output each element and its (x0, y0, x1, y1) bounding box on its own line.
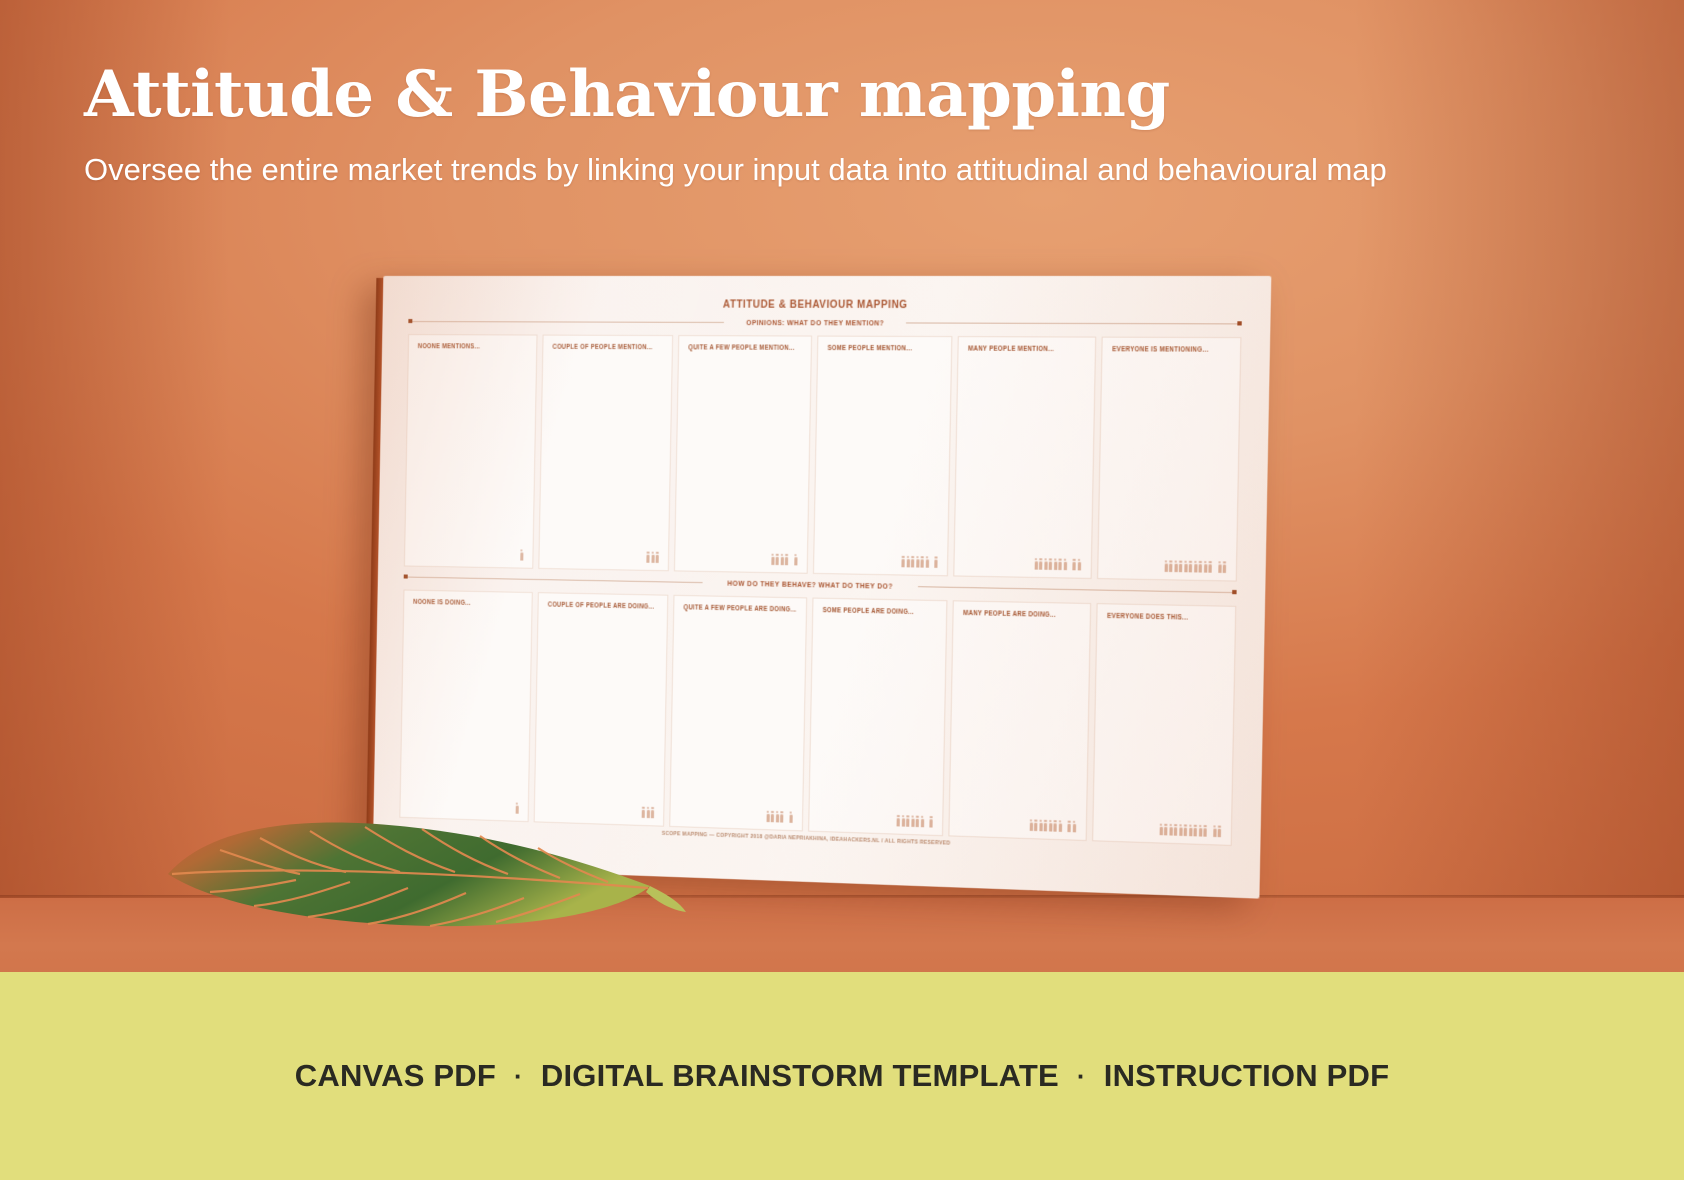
deliverable-digital-template: DIGITAL BRAINSTORM TEMPLATE (541, 1058, 1059, 1094)
opinion-cell-label: EVERYONE IS MENTIONING... (1112, 346, 1214, 354)
divider-label-opinions: OPINIONS: WHAT DO THEY MENTION? (746, 318, 884, 328)
divider-rule-left (408, 321, 723, 323)
person-icon (1029, 819, 1032, 831)
person-icon (1039, 558, 1042, 570)
person-icon (1189, 561, 1193, 573)
deliverables-list: CANVAS PDF · DIGITAL BRAINSTORM TEMPLATE… (295, 1058, 1389, 1094)
deliverable-canvas-pdf: CANVAS PDF (295, 1058, 496, 1094)
opinion-cell-4[interactable]: SOME PEOPLE MENTION... (812, 336, 952, 577)
person-icon (520, 549, 523, 560)
person-icon (1169, 824, 1172, 836)
person-icon (1223, 561, 1227, 573)
croton-leaf-prop (150, 800, 690, 950)
person-icon (897, 815, 900, 826)
person-icon (916, 816, 919, 827)
leaf-blade (168, 822, 650, 926)
person-icon (1179, 824, 1183, 836)
person-icon (1034, 820, 1037, 832)
opinion-cell-6[interactable]: EVERYONE IS MENTIONING... (1097, 337, 1242, 582)
person-icon (1174, 561, 1177, 573)
people-count-icons (901, 556, 937, 568)
person-icon (916, 556, 919, 567)
page-subtitle: Oversee the entire market trends by link… (84, 149, 1404, 191)
people-count-icons (646, 552, 659, 563)
person-icon (794, 554, 797, 565)
behaviour-cell-label: EVERYONE DOES THIS... (1107, 613, 1209, 622)
person-icon (1077, 559, 1080, 571)
person-icon (901, 815, 904, 826)
person-icon (1213, 825, 1217, 837)
people-count-icons (771, 554, 797, 566)
person-icon (1058, 820, 1061, 832)
divider-rule-right (906, 322, 1241, 324)
person-icon (1218, 826, 1222, 838)
person-icon (775, 554, 778, 565)
person-icon (780, 811, 783, 822)
deliverables-banner: CANVAS PDF · DIGITAL BRAINSTORM TEMPLATE… (0, 972, 1684, 1180)
people-count-icons (766, 811, 792, 823)
person-icon (775, 811, 778, 822)
opinions-row: NOONE MENTIONS...COUPLE OF PEOPLE MENTIO… (404, 334, 1242, 582)
person-icon (1039, 820, 1042, 832)
leaf-illustration (150, 800, 690, 950)
behaviour-cell-label: MANY PEOPLE ARE DOING... (963, 610, 1063, 619)
person-icon (1189, 825, 1193, 837)
person-icon (1164, 824, 1167, 836)
behaviour-cell-1[interactable]: NOONE IS DOING... (399, 590, 532, 823)
page-title: Attitude & Behaviour mapping (84, 62, 1424, 127)
people-count-icons (1164, 560, 1226, 573)
person-icon (929, 816, 932, 827)
person-icon (1208, 561, 1212, 573)
behaviour-cell-label: COUPLE OF PEOPLE ARE DOING... (547, 601, 642, 610)
person-icon (1203, 561, 1207, 573)
divider-rule-right (918, 586, 1236, 593)
person-icon (1198, 825, 1202, 837)
person-icon (1199, 561, 1203, 573)
person-icon (1174, 824, 1177, 836)
person-icon (1034, 558, 1037, 570)
person-icon (1058, 559, 1061, 571)
person-icon (1067, 821, 1070, 833)
person-icon (1169, 560, 1172, 572)
person-icon (1184, 561, 1188, 573)
separator-dot: · (514, 1061, 523, 1092)
behaviour-cell-2[interactable]: COUPLE OF PEOPLE ARE DOING... (533, 592, 668, 827)
person-icon (1053, 820, 1056, 832)
person-icon (1164, 560, 1167, 572)
person-icon (1159, 824, 1162, 836)
opinion-cell-label: NOONE MENTIONS... (418, 343, 512, 350)
person-icon (785, 554, 788, 565)
person-icon (1049, 820, 1052, 832)
person-icon (1063, 559, 1066, 571)
divider-rule-left (404, 576, 703, 583)
person-icon (911, 815, 914, 826)
person-icon (920, 556, 923, 567)
person-icon (1072, 559, 1075, 571)
person-icon (1044, 820, 1047, 832)
person-icon (1184, 824, 1188, 836)
person-icon (911, 556, 914, 567)
person-icon (1044, 558, 1047, 570)
opinion-cell-3[interactable]: QUITE A FEW PEOPLE MENTION... (674, 335, 812, 574)
person-icon (1194, 561, 1198, 573)
person-icon (656, 552, 659, 563)
product-mockup-scene: Attitude & Behaviour mapping Oversee the… (0, 0, 1684, 1180)
person-icon (901, 556, 904, 567)
people-count-icons (520, 549, 523, 560)
people-count-icons (1159, 824, 1221, 838)
person-icon (780, 554, 783, 565)
person-icon (1193, 825, 1197, 837)
behaviour-cell-3[interactable]: QUITE A FEW PEOPLE ARE DOING... (669, 595, 807, 832)
divider-label-behaviour: HOW DO THEY BEHAVE? WHAT DO THEY DO? (727, 578, 893, 590)
separator-dot: · (1077, 1061, 1086, 1092)
person-icon (789, 811, 792, 822)
leaf-stem (646, 886, 686, 912)
behaviour-cell-label: QUITE A FEW PEOPLE ARE DOING... (683, 604, 780, 613)
person-icon (1218, 561, 1222, 573)
opinion-cell-2[interactable]: COUPLE OF PEOPLE MENTION... (538, 335, 673, 572)
person-icon (646, 552, 649, 563)
opinion-cell-label: COUPLE OF PEOPLE MENTION... (552, 344, 647, 352)
people-count-icons (897, 815, 933, 828)
person-icon (1203, 825, 1207, 837)
person-icon (771, 811, 774, 822)
person-icon (925, 556, 928, 567)
behaviour-cell-label: SOME PEOPLE ARE DOING... (822, 607, 920, 616)
behaviour-cell-6[interactable]: EVERYONE DOES THIS... (1092, 603, 1237, 846)
person-icon (1053, 558, 1056, 570)
deliverable-instruction-pdf: INSTRUCTION PDF (1104, 1058, 1389, 1094)
canvas-title: ATTITUDE & BEHAVIOUR MAPPING (480, 298, 1163, 312)
opinion-cell-label: QUITE A FEW PEOPLE MENTION... (688, 344, 785, 352)
people-count-icons (1029, 819, 1076, 832)
person-icon (651, 552, 654, 563)
person-icon (1179, 561, 1183, 573)
person-icon (934, 556, 937, 567)
behaviour-cell-4[interactable]: SOME PEOPLE ARE DOING... (808, 598, 948, 837)
divider-opinions: OPINIONS: WHAT DO THEY MENTION? (408, 317, 1242, 329)
opinion-cell-label: MANY PEOPLE MENTION... (968, 345, 1068, 353)
behaviour-cell-label: NOONE IS DOING... (413, 599, 507, 608)
people-count-icons (1034, 558, 1081, 570)
opinion-cell-1[interactable]: NOONE MENTIONS... (404, 334, 537, 569)
person-icon (1049, 558, 1052, 570)
headline-block: Attitude & Behaviour mapping Oversee the… (84, 62, 1424, 191)
person-icon (920, 816, 923, 827)
opinion-cell-label: SOME PEOPLE MENTION... (827, 345, 925, 353)
opinion-cell-5[interactable]: MANY PEOPLE MENTION... (953, 336, 1095, 579)
person-icon (1072, 821, 1075, 833)
person-icon (771, 554, 774, 565)
person-icon (906, 815, 909, 826)
person-icon (906, 556, 909, 567)
person-icon (766, 811, 769, 822)
behaviour-cell-5[interactable]: MANY PEOPLE ARE DOING... (948, 600, 1090, 841)
